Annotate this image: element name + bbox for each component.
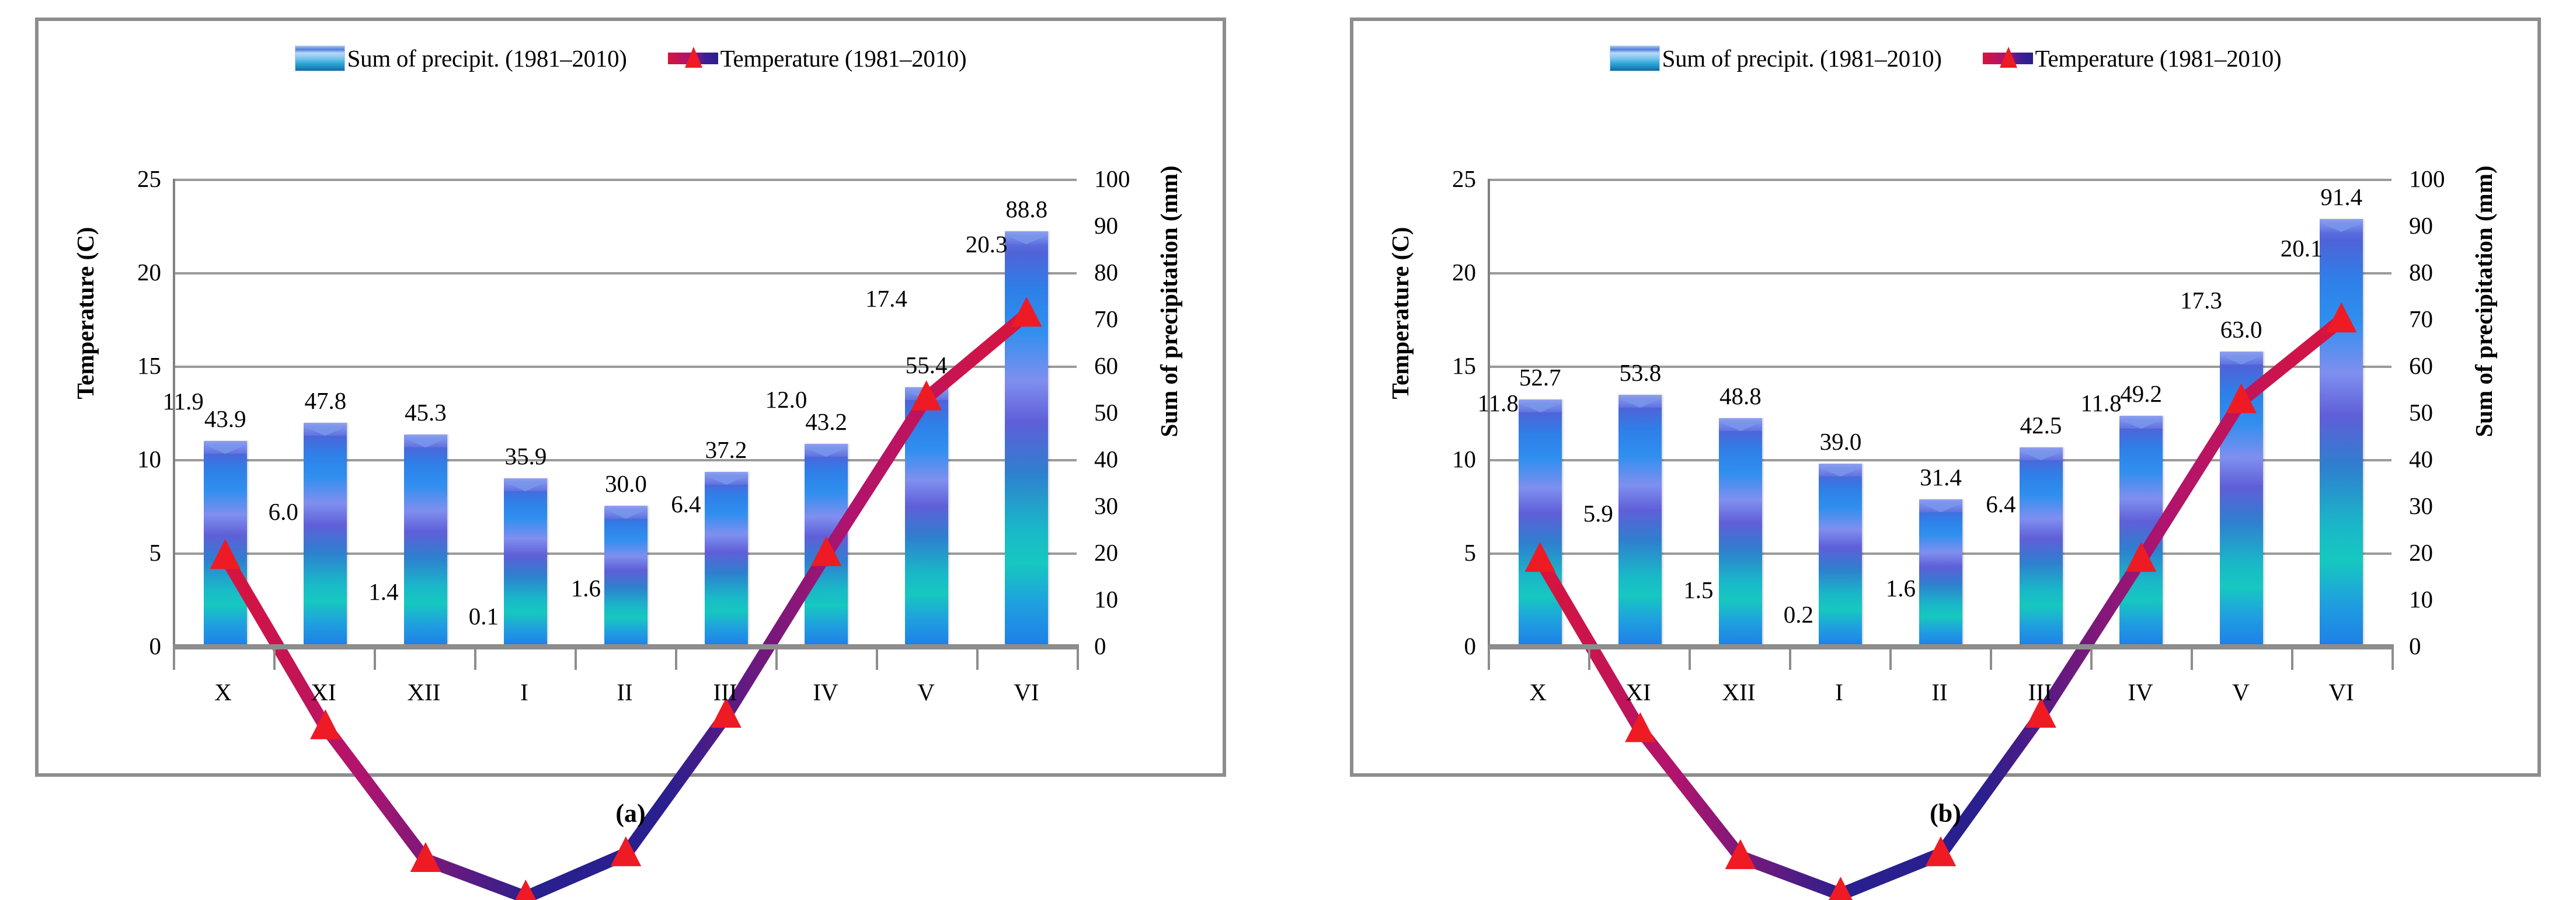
legend-label-precipitation: Sum of precipit. (1981–2010) xyxy=(347,44,627,72)
y-tick-left: 25 xyxy=(1423,165,1476,193)
y-tick-left: 15 xyxy=(1423,352,1476,380)
y-tick-left: 15 xyxy=(109,352,161,380)
x-axis-label: II xyxy=(575,678,675,706)
x-axis-ticks-a xyxy=(173,649,1077,672)
precipitation-value-label: 63.0 xyxy=(2220,315,2262,343)
y-tick-right: 20 xyxy=(1094,538,1147,567)
bar-cell[interactable] xyxy=(2191,179,2292,646)
x-axis-ticks-b xyxy=(1488,649,2391,672)
temperature-value-label: 5.9 xyxy=(1583,499,1613,527)
y-tick-right: 30 xyxy=(2409,492,2462,520)
temperature-marker[interactable] xyxy=(1725,839,1756,869)
legend-label-precipitation: Sum of precipit. (1981–2010) xyxy=(1662,44,1942,72)
chart-panel-a: Sum of precipit. (1981–2010) Temperature… xyxy=(0,0,1261,841)
y-tick-left: 25 xyxy=(109,165,161,193)
line-triangle-marker-swatch-icon xyxy=(668,46,718,71)
legend-item-precipitation-b[interactable]: Sum of precipit. (1981–2010) xyxy=(1610,44,1942,72)
line-triangle-marker-swatch-icon xyxy=(1983,46,2033,71)
precipitation-bar[interactable] xyxy=(1519,399,1562,646)
precipitation-value-label: 42.5 xyxy=(2020,411,2062,439)
y-tick-right: 70 xyxy=(1094,305,1147,333)
temperature-marker[interactable] xyxy=(410,842,441,872)
bar-cell[interactable] xyxy=(1791,179,1891,646)
precipitation-value-label: 49.2 xyxy=(2120,380,2162,408)
temperature-value-label: 1.6 xyxy=(571,574,601,602)
y-tick-left: 5 xyxy=(109,538,161,567)
x-tick-mark xyxy=(1889,649,1892,670)
panel-caption-a: (a) xyxy=(0,798,1261,828)
bar-cell[interactable] xyxy=(876,179,977,646)
bar-series-b xyxy=(1490,179,2391,646)
x-tick-mark xyxy=(1488,649,1490,670)
precipitation-value-label: 43.2 xyxy=(805,408,847,436)
bar-cell[interactable] xyxy=(476,179,576,646)
temperature-value-label: 6.4 xyxy=(671,490,701,518)
precipitation-value-label: 91.4 xyxy=(2320,183,2362,211)
y-tick-right: 60 xyxy=(2409,352,2462,380)
x-axis-label: IV xyxy=(2090,678,2191,706)
chart-frame-a: Sum of precipit. (1981–2010) Temperature… xyxy=(35,18,1226,777)
x-tick-mark xyxy=(575,649,577,670)
y-tick-left: 10 xyxy=(109,445,161,473)
x-axis-label: XII xyxy=(1689,678,1789,706)
chart-frame-b: Sum of precipit. (1981–2010) Temperature… xyxy=(1350,18,2541,777)
precipitation-bar[interactable] xyxy=(705,472,748,646)
y-tick-right: 40 xyxy=(2409,445,2462,473)
y-tick-right: 50 xyxy=(1094,398,1147,426)
y-tick-right: 90 xyxy=(1094,211,1147,239)
panel-caption-a-text: (a) xyxy=(615,799,645,828)
precipitation-bar[interactable] xyxy=(504,478,547,646)
bar-cell[interactable] xyxy=(1590,179,1691,646)
temperature-value-label: 6.0 xyxy=(269,498,298,526)
x-tick-mark xyxy=(1990,649,1992,670)
temperature-value-label: 0.2 xyxy=(1784,600,1813,628)
precipitation-bar[interactable] xyxy=(1618,395,1662,646)
temperature-marker[interactable] xyxy=(310,710,340,739)
plot-area-b: Temperature (C) Sum of precipitation (mm… xyxy=(1353,120,2537,751)
y-tick-right: 60 xyxy=(1094,352,1147,380)
precipitation-value-label: 52.7 xyxy=(1519,363,1561,391)
y-tick-left: 20 xyxy=(1423,258,1476,286)
panel-caption-b: (b) xyxy=(1315,798,2576,828)
temperature-value-label: 1.5 xyxy=(1683,576,1713,604)
x-axis-labels-a: XXIXIIIIIIIIIVVVI xyxy=(173,678,1077,706)
precipitation-value-label: 37.2 xyxy=(705,436,747,464)
precipitation-bar[interactable] xyxy=(1005,231,1048,646)
x-axis-label: XI xyxy=(273,678,374,706)
x-tick-mark xyxy=(876,649,878,670)
y-axis-right-title-a: Sum of precipitation (mm) xyxy=(1155,164,1190,439)
temperature-value-label: 1.6 xyxy=(1886,574,1916,602)
plot-area-a: Temperature (C) Sum of precipitation (mm… xyxy=(39,120,1223,751)
precipitation-value-label: 31.4 xyxy=(1920,463,1962,491)
bar-cell[interactable] xyxy=(676,179,777,646)
x-axis-label: X xyxy=(173,678,273,706)
legend-label-temperature: Temperature (1981–2010) xyxy=(2035,44,2282,72)
x-axis-label: I xyxy=(1789,678,1889,706)
precipitation-bar[interactable] xyxy=(604,506,648,646)
precipitation-value-label: 55.4 xyxy=(906,351,948,379)
x-tick-mark xyxy=(1077,649,1079,670)
precipitation-value-label: 88.8 xyxy=(1005,195,1047,223)
legend-a: Sum of precipit. (1981–2010) Temperature… xyxy=(39,44,1223,72)
temperature-value-label: 1.4 xyxy=(368,578,398,606)
y-tick-right: 30 xyxy=(1094,492,1147,520)
y-tick-left: 0 xyxy=(1423,632,1476,660)
y-tick-right: 50 xyxy=(2409,398,2462,426)
x-axis-label: IV xyxy=(775,678,876,706)
precipitation-bar[interactable] xyxy=(1719,418,1762,646)
chart-panel-b: Sum of precipit. (1981–2010) Temperature… xyxy=(1315,0,2576,841)
y-tick-left: 5 xyxy=(1423,538,1476,567)
legend-label-temperature: Temperature (1981–2010) xyxy=(720,44,967,72)
x-axis-label: III xyxy=(675,678,775,706)
legend-b: Sum of precipit. (1981–2010) Temperature… xyxy=(1353,44,2537,72)
x-axis-label: V xyxy=(876,678,976,706)
y-axis-left-title-a: Temperature (C) xyxy=(71,208,106,418)
y-tick-right: 80 xyxy=(1094,258,1147,286)
legend-item-temperature-a[interactable]: Temperature (1981–2010) xyxy=(668,44,967,72)
temperature-value-label: 20.1 xyxy=(2281,234,2323,262)
precipitation-bar[interactable] xyxy=(1919,499,1962,646)
precipitation-value-label: 48.8 xyxy=(1719,382,1762,410)
x-tick-mark xyxy=(1789,649,1791,670)
legend-item-precipitation-a[interactable]: Sum of precipit. (1981–2010) xyxy=(295,44,627,72)
y-tick-left: 20 xyxy=(109,258,161,286)
x-tick-mark xyxy=(1588,649,1590,670)
y-tick-right: 0 xyxy=(1094,632,1147,660)
x-tick-mark xyxy=(675,649,677,670)
precipitation-bar[interactable] xyxy=(1819,464,1862,646)
x-tick-mark xyxy=(775,649,778,670)
temperature-value-label: 6.4 xyxy=(1986,490,2015,518)
x-tick-mark xyxy=(1689,649,1691,670)
precipitation-bar[interactable] xyxy=(304,423,347,646)
x-tick-mark xyxy=(2090,649,2093,670)
y-tick-right: 10 xyxy=(2409,585,2462,613)
temperature-value-label: 17.3 xyxy=(2180,286,2222,314)
y-tick-right: 0 xyxy=(2409,632,2462,660)
x-tick-mark xyxy=(2291,649,2293,670)
x-axis-label: XI xyxy=(1588,678,1689,706)
y-axis-left-ticks-a: 0510152025 xyxy=(109,179,161,646)
temperature-value-label: 0.1 xyxy=(469,602,499,630)
y-tick-right: 100 xyxy=(1094,165,1147,193)
precipitation-bar[interactable] xyxy=(2320,219,2363,646)
x-tick-mark xyxy=(374,649,376,670)
temperature-value-label: 11.9 xyxy=(163,387,204,415)
y-axis-left-ticks-b: 0510152025 xyxy=(1423,179,1476,646)
temperature-value-label: 11.8 xyxy=(2080,389,2121,417)
x-tick-mark xyxy=(474,649,476,670)
x-axis-label: V xyxy=(2191,678,2291,706)
temperature-value-label: 12.0 xyxy=(765,385,807,413)
axes-b: 52.753.848.839.031.442.549.263.091.411.8… xyxy=(1488,179,2391,646)
temperature-value-label: 17.4 xyxy=(865,284,907,312)
y-axis-left-title-b: Temperature (C) xyxy=(1386,208,1421,418)
precipitation-bar[interactable] xyxy=(905,387,948,646)
y-tick-right: 70 xyxy=(2409,305,2462,333)
x-tick-mark xyxy=(173,649,175,670)
precipitation-value-label: 30.0 xyxy=(605,470,647,498)
temperature-marker[interactable] xyxy=(1625,712,1655,742)
x-axis-label: III xyxy=(1990,678,2090,706)
bar-gradient-swatch-icon xyxy=(295,46,345,71)
temperature-value-label: 11.8 xyxy=(1478,389,1519,417)
precipitation-bar[interactable] xyxy=(404,435,447,646)
precipitation-bar[interactable] xyxy=(805,444,848,646)
x-tick-mark xyxy=(273,649,276,670)
legend-item-temperature-b[interactable]: Temperature (1981–2010) xyxy=(1983,44,2282,72)
y-tick-right: 40 xyxy=(1094,445,1147,473)
bar-gradient-swatch-icon xyxy=(1610,46,1660,71)
x-tick-mark xyxy=(2391,649,2394,670)
temperature-marker[interactable] xyxy=(510,880,541,900)
y-tick-right: 10 xyxy=(1094,585,1147,613)
precipitation-value-label: 39.0 xyxy=(1820,428,1862,456)
y-axis-right-ticks-a: 0102030405060708090100 xyxy=(1094,179,1147,646)
x-tick-mark xyxy=(976,649,979,670)
x-axis-label: I xyxy=(474,678,575,706)
precipitation-bar[interactable] xyxy=(2020,447,2063,646)
y-axis-right-ticks-b: 0102030405060708090100 xyxy=(2409,179,2462,646)
y-tick-right: 20 xyxy=(2409,538,2462,567)
x-axis-label: VI xyxy=(2291,678,2391,706)
x-axis-label: XII xyxy=(374,678,474,706)
x-axis-label: X xyxy=(1488,678,1588,706)
figure-root: Sum of precipit. (1981–2010) Temperature… xyxy=(0,0,2576,841)
y-tick-right: 100 xyxy=(2409,165,2462,193)
x-axis-labels-b: XXIXIIIIIIIIIVVVI xyxy=(1488,678,2391,706)
precipitation-value-label: 45.3 xyxy=(405,398,447,426)
temperature-value-label: 20.3 xyxy=(966,230,1008,258)
x-tick-mark xyxy=(2191,649,2193,670)
y-tick-left: 10 xyxy=(1423,445,1476,473)
y-tick-left: 0 xyxy=(109,632,161,660)
x-axis-label: VI xyxy=(976,678,1077,706)
precipitation-value-label: 47.8 xyxy=(304,387,346,415)
panel-caption-b-text: (b) xyxy=(1930,799,1961,828)
y-axis-right-title-b: Sum of precipitation (mm) xyxy=(2470,164,2505,439)
axes-a: 43.947.845.335.930.037.243.255.488.811.9… xyxy=(173,179,1077,646)
x-axis-label: II xyxy=(1889,678,1990,706)
precipitation-value-label: 53.8 xyxy=(1619,359,1661,387)
precipitation-value-label: 35.9 xyxy=(505,442,547,470)
precipitation-bar[interactable] xyxy=(204,441,247,646)
y-tick-right: 90 xyxy=(2409,211,2462,239)
precipitation-bar[interactable] xyxy=(2119,416,2163,646)
y-tick-right: 80 xyxy=(2409,258,2462,286)
precipitation-bar[interactable] xyxy=(2220,352,2263,646)
temperature-marker[interactable] xyxy=(1825,877,1856,900)
precipitation-value-label: 43.9 xyxy=(204,405,246,433)
